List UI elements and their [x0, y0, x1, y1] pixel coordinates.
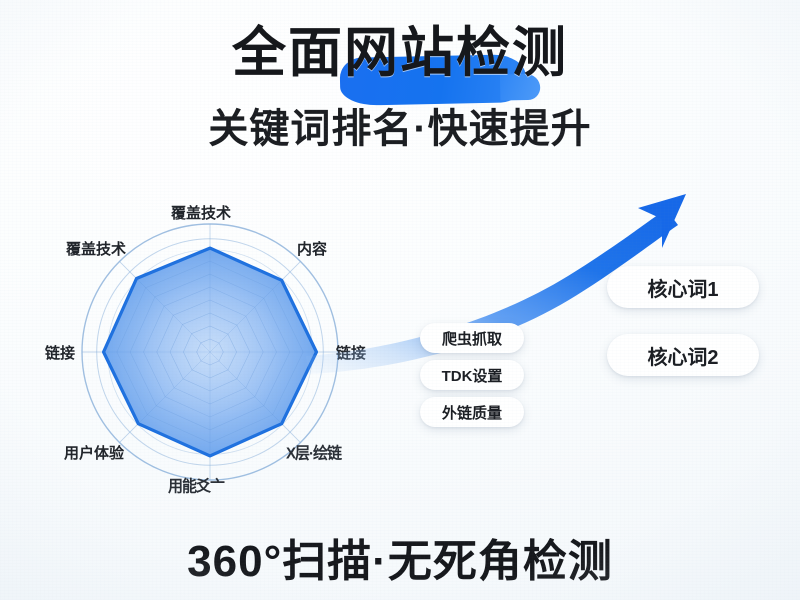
radar-axis-label-top-right: 内容	[297, 238, 327, 259]
pill-keyword-2[interactable]: 核心词2	[607, 334, 759, 376]
arrow-head	[638, 194, 686, 248]
radar-axis-label-right: 链接	[336, 342, 366, 363]
radar-chart: 覆盖技术 内容 链接 X层·绘链 用能爻亠 用户体验 链接 覆盖技术	[48, 196, 378, 516]
pill-link-quality[interactable]: 外链质量	[420, 397, 524, 427]
page-title: 全面网站检测	[222, 26, 578, 80]
pill-crawl[interactable]: 爬虫抓取	[420, 323, 524, 353]
radar-axis-label-top: 覆盖技术	[171, 202, 231, 223]
poster-canvas: 全面网站检测 关键词排名·快速提升 覆盖技术	[0, 0, 800, 600]
radar-axis-label-top-left: 覆盖技术	[66, 238, 126, 259]
pill-tdk[interactable]: TDK设置	[420, 360, 524, 390]
radar-axis-label-bottom-left: 用户体验	[64, 442, 124, 463]
footer-title: 360°扫描·无死角检测	[0, 525, 800, 589]
pill-keyword-1[interactable]: 核心词1	[607, 266, 759, 308]
radar-axis-label-left: 链接	[45, 342, 75, 363]
radar-axis-label-bottom-right: X层·绘链	[286, 441, 341, 463]
radar-axis-label-bottom: 用能爻亠	[168, 474, 224, 496]
main-title-wrap: 全面网站检测	[222, 26, 578, 80]
headline-block: 全面网站检测 关键词排名·快速提升	[0, 26, 800, 154]
